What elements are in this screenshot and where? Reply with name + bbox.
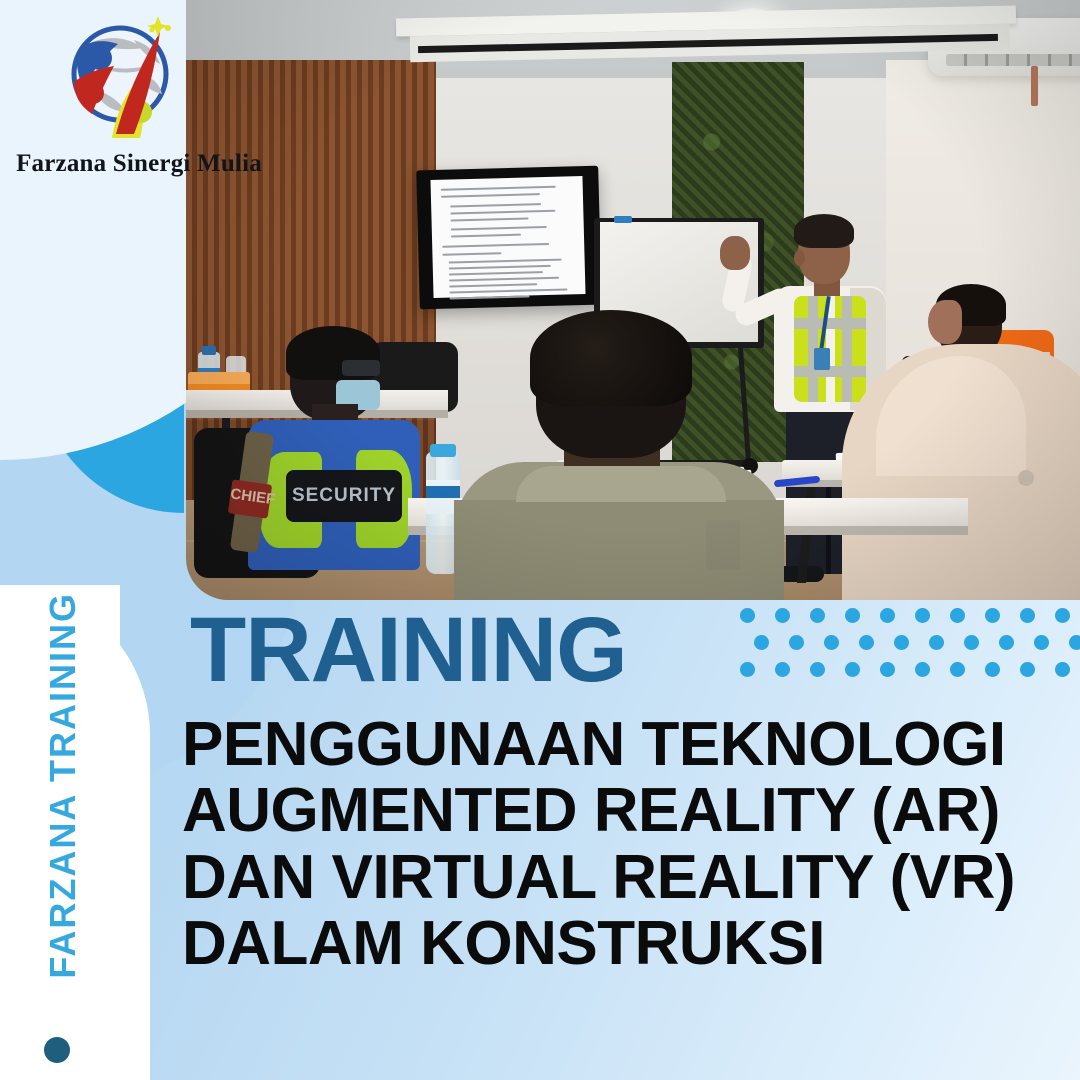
globe-people-logo-icon <box>56 12 186 142</box>
page-title: TRAINING <box>190 604 627 696</box>
side-vertical-label: FARZANA TRAINING <box>8 560 118 1010</box>
side-vertical-label-text: FARZANA TRAINING <box>42 592 84 979</box>
headline-subtitle: PENGGUNAAN TEKNOLOGI AUGMENTED REALITY (… <box>182 712 992 977</box>
brand-logo: Farzana Sinergi Mulia <box>14 12 274 197</box>
headline-line-1: PENGGUNAAN TEKNOLOGI <box>182 712 992 778</box>
training-photo: SECURITY CHIEF <box>186 0 1080 600</box>
bullet-dot-decoration <box>44 1037 70 1063</box>
dot-row-2 <box>754 635 1070 650</box>
headline-line-2: AUGMENTED REALITY (AR) <box>182 778 992 844</box>
company-name: Farzana Sinergi Mulia <box>14 150 264 178</box>
headline-line-3: DAN VIRTUAL REALITY (VR) <box>182 845 992 911</box>
dot-grid-decoration <box>740 608 1070 678</box>
dot-row-1 <box>740 608 1070 623</box>
poster-canvas: Farzana Sinergi Mulia <box>0 0 1080 1080</box>
photo-vignette <box>186 0 1080 600</box>
headline-line-4: DALAM KONSTRUKSI <box>182 911 992 977</box>
dot-row-3 <box>740 662 1070 677</box>
